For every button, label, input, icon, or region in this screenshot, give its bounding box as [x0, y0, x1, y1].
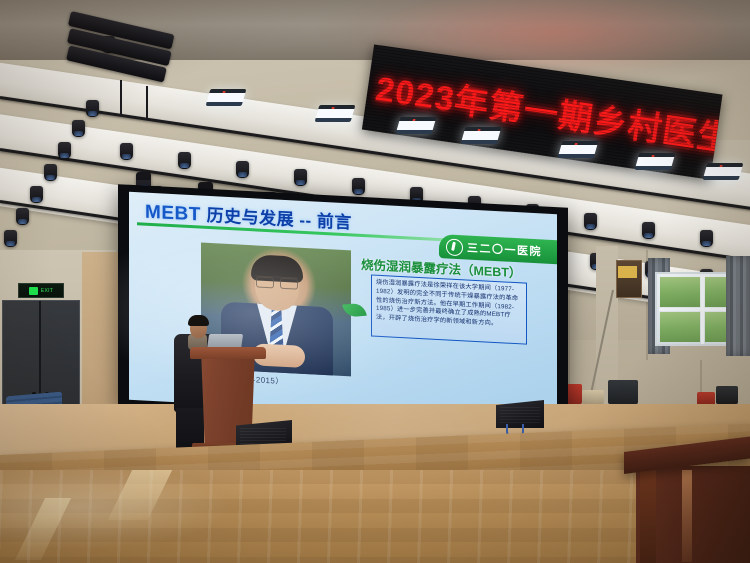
presenter-hair: [188, 315, 209, 326]
flood-panel-light: [461, 127, 502, 144]
hospital-logo-text: 三二〇一医院: [467, 239, 542, 259]
floor-equipment-case: [608, 380, 638, 404]
floor-carton: [582, 390, 604, 404]
par-can-light: [86, 100, 99, 117]
par-can-light: [58, 142, 71, 159]
par-can-light: [178, 152, 191, 169]
portrait-glasses: [256, 275, 298, 288]
exit-sign-label: EXIT: [41, 288, 53, 294]
speaker-rigging-wire: [146, 86, 148, 120]
flood-panel-light: [206, 89, 247, 106]
par-can-light: [30, 186, 43, 203]
par-can-light: [352, 178, 365, 195]
window-curtain-right: [726, 256, 750, 356]
speaker-rigging-wire: [120, 80, 122, 114]
window-pane: [660, 277, 700, 307]
flood-panel-light: [635, 153, 676, 170]
wall-notice-paper: [618, 266, 637, 278]
par-can-light: [4, 230, 17, 247]
window-pane: [660, 312, 700, 342]
flood-panel-light: [396, 117, 437, 134]
par-can-light: [584, 213, 597, 230]
conference-hall-photo: 2023年第一期乡村医生培训: [0, 0, 750, 563]
par-can-light: [294, 169, 307, 186]
foreground-desk-leg: [640, 470, 656, 563]
floor-red-box: [566, 384, 582, 404]
emergency-exit-sign: EXIT: [18, 283, 64, 298]
floor-dark-case: [716, 386, 738, 404]
podium-lectern-top: [190, 347, 266, 359]
flood-panel-light: [315, 105, 356, 122]
floor-reflection: [0, 470, 420, 563]
par-can-light: [642, 222, 655, 239]
flood-panel-light: [558, 141, 599, 158]
foreground-desk-highlight: [682, 470, 692, 562]
par-can-light: [236, 161, 249, 178]
running-man-icon: [29, 287, 38, 295]
par-can-light: [44, 164, 57, 181]
par-can-light: [16, 208, 29, 225]
slide-title-en: MEBT: [145, 202, 201, 226]
par-can-light: [700, 230, 713, 247]
hospital-logo-icon: [446, 238, 463, 256]
par-can-light: [72, 120, 85, 137]
par-can-light: [120, 143, 133, 160]
flood-panel-light: [703, 163, 744, 180]
slide-body-text: 烧伤湿润暴露疗法是徐荣祥在该大学期间（1977-1982）发明的完全不同于传统干…: [371, 274, 527, 344]
